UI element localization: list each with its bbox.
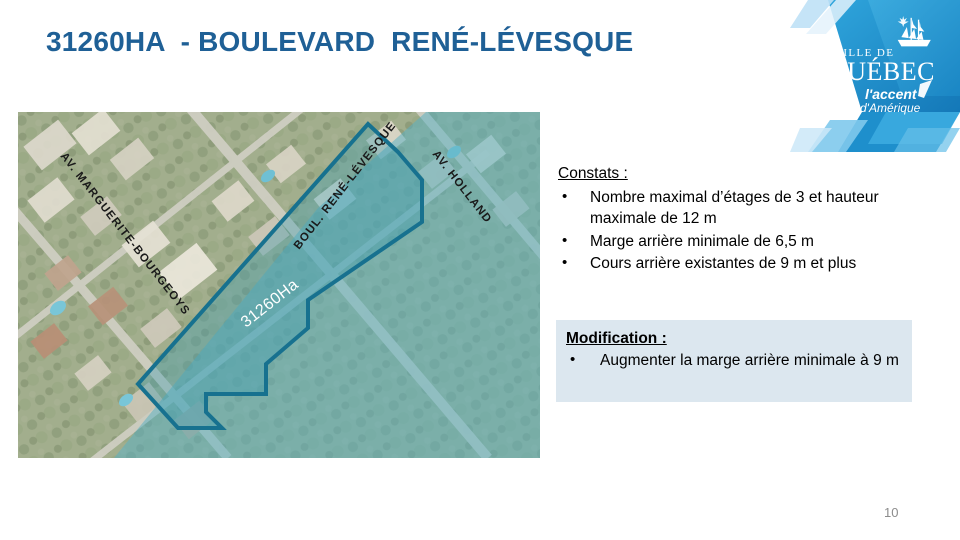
list-item-text: Marge arrière minimale de 6,5 m — [590, 233, 814, 250]
list-item-text: Cours arrière existantes de 9 m et plus — [590, 255, 856, 272]
list-item: • Marge arrière minimale de 6,5 m — [558, 231, 918, 252]
aerial-map-figure: AV. MARGUERITE-BOURGEOYS BOUL. RENÉ-LÉVE… — [18, 112, 540, 458]
list-item-text: Nombre maximal d’étages de 3 et hauteur … — [590, 189, 879, 227]
constats-heading: Constats : — [558, 165, 918, 183]
list-item-text: Augmenter la marge arrière minimale à 9 … — [600, 352, 899, 369]
bullet-icon: • — [562, 187, 567, 208]
list-item: • Nombre maximal d’étages de 3 et hauteu… — [558, 187, 918, 230]
list-item: • Cours arrière existantes de 9 m et plu… — [558, 253, 918, 274]
map-graphic: AV. MARGUERITE-BOURGEOYS BOUL. RENÉ-LÉVE… — [18, 112, 540, 458]
bullet-icon: • — [562, 231, 567, 252]
list-item: • Augmenter la marge arrière minimale à … — [566, 350, 904, 371]
constats-section: Constats : • Nombre maximal d’étages de … — [558, 165, 918, 276]
bullet-icon: • — [562, 253, 567, 274]
modification-callout-box: Modification : • Augmenter la marge arri… — [556, 320, 912, 402]
page-number: 10 — [884, 505, 898, 520]
modification-list: • Augmenter la marge arrière minimale à … — [566, 350, 904, 371]
ville-de-quebec-logo: VILLE DE QUÉBEC l'accent d'Amérique — [790, 0, 960, 152]
bullet-icon: • — [570, 350, 575, 371]
modification-heading: Modification : — [566, 330, 904, 348]
page-title: 31260HA - BOULEVARD RENÉ-LÉVESQUE — [46, 26, 633, 58]
constats-list: • Nombre maximal d’étages de 3 et hauteu… — [558, 187, 918, 275]
logo-graphic — [790, 0, 960, 152]
